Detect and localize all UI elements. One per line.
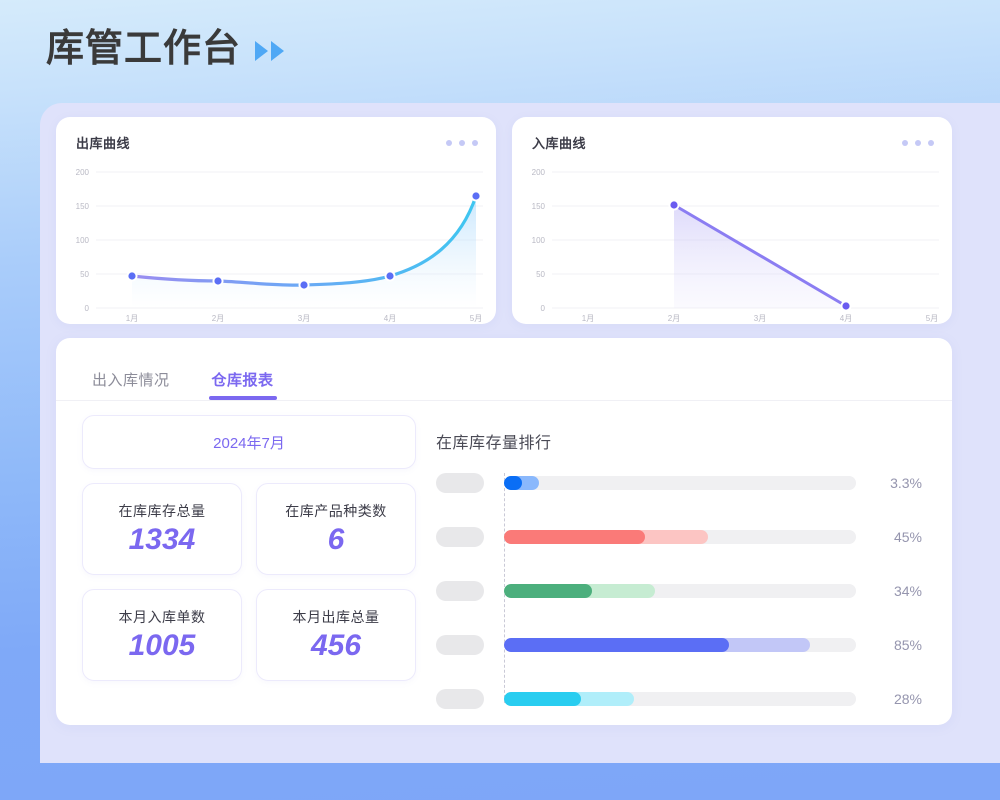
ranking-bar-track (504, 530, 856, 544)
dot-1 (446, 140, 452, 146)
svg-text:4月: 4月 (384, 314, 396, 323)
svg-text:5月: 5月 (470, 314, 482, 323)
ranking-label-placeholder (436, 635, 484, 655)
svg-text:2月: 2月 (212, 314, 224, 323)
dot-3 (928, 140, 934, 146)
stat-label: 在库库存总量 (119, 501, 206, 521)
play-triangle-icon-2 (271, 41, 284, 61)
ranking-row: 85% (436, 633, 922, 657)
ranking-percent-label: 85% (870, 637, 922, 653)
ranking-title: 在库库存量排行 (436, 429, 922, 453)
svg-text:100: 100 (76, 236, 90, 245)
period-selector[interactable]: 2024年7月 (82, 415, 416, 469)
ranking-bar-dark-segment (504, 692, 581, 706)
svg-text:150: 150 (76, 202, 90, 211)
more-dots-icon[interactable] (902, 140, 934, 146)
ranking-percent-label: 3.3% (870, 475, 922, 491)
svg-text:2月: 2月 (668, 314, 680, 323)
stat-label: 本月入库单数 (119, 607, 206, 627)
ranking-label-placeholder (436, 689, 484, 709)
page-title: 库管工作台 (46, 30, 241, 68)
ranking-bar-dark-segment (504, 476, 522, 490)
report-card: 出入库情况 仓库报表 2024年7月 在库库存总量 1334 在库产品种类数 6… (56, 338, 952, 725)
svg-text:0: 0 (85, 304, 90, 313)
ranking-label-placeholder (436, 473, 484, 493)
svg-text:150: 150 (532, 202, 546, 211)
stat-card-product-types[interactable]: 在库产品种类数 6 (256, 483, 416, 575)
stat-label: 在库产品种类数 (285, 501, 387, 521)
outbound-chart-card: 出库曲线 (56, 117, 496, 324)
tab-bar: 出入库情况 仓库报表 (56, 338, 952, 400)
ranking-label-placeholder (436, 581, 484, 601)
ranking-bar-track (504, 638, 856, 652)
ranking-bar-track (504, 476, 856, 490)
stat-card-inbound-orders[interactable]: 本月入库单数 1005 (82, 589, 242, 681)
outbound-chart-title: 出库曲线 (76, 133, 130, 152)
dot-1 (902, 140, 908, 146)
ranking-row: 3.3% (436, 471, 922, 495)
svg-text:50: 50 (80, 270, 89, 279)
stat-label: 本月出库总量 (293, 607, 380, 627)
svg-text:4月: 4月 (840, 314, 852, 323)
tab-inbound-outbound[interactable]: 出入库情况 (92, 369, 170, 400)
svg-text:200: 200 (532, 168, 546, 177)
stats-column: 2024年7月 在库库存总量 1334 在库产品种类数 6 本月入库单数 100… (56, 401, 428, 725)
outbound-chart-header: 出库曲线 (56, 117, 496, 152)
inbound-chart-header: 入库曲线 (512, 117, 952, 152)
page-header: 库管工作台 (46, 30, 284, 68)
stat-card-outbound-total[interactable]: 本月出库总量 456 (256, 589, 416, 681)
ranking-percent-label: 45% (870, 529, 922, 545)
ranking-row: 28% (436, 687, 922, 711)
svg-text:200: 200 (76, 168, 90, 177)
ranking-bar-dark-segment (504, 638, 729, 652)
svg-text:1月: 1月 (582, 314, 594, 323)
more-dots-icon[interactable] (446, 140, 478, 146)
ranking-row: 34% (436, 579, 922, 603)
stat-value: 6 (328, 523, 345, 558)
period-label: 2024年7月 (213, 432, 285, 453)
play-triangle-icon-1 (255, 41, 268, 61)
inbound-chart-title: 入库曲线 (532, 133, 586, 152)
ranking-bar-track (504, 692, 856, 706)
stat-value: 1005 (129, 629, 196, 664)
report-body: 2024年7月 在库库存总量 1334 在库产品种类数 6 本月入库单数 100… (56, 401, 952, 725)
stat-value: 456 (311, 629, 361, 664)
svg-text:3月: 3月 (754, 314, 766, 323)
ranking-label-placeholder (436, 527, 484, 547)
ranking-bar-dark-segment (504, 530, 645, 544)
tab-warehouse-report[interactable]: 仓库报表 (212, 369, 274, 400)
dot-2 (459, 140, 465, 146)
ranking-column: 在库库存量排行 3.3%45%34%85%28% (428, 401, 952, 725)
ranking-percent-label: 28% (870, 691, 922, 707)
svg-text:100: 100 (532, 236, 546, 245)
ranking-bar-dark-segment (504, 584, 592, 598)
svg-text:5月: 5月 (926, 314, 938, 323)
ranking-list: 3.3%45%34%85%28% (436, 471, 922, 711)
inbound-chart-card: 入库曲线 (512, 117, 952, 324)
svg-text:1月: 1月 (126, 314, 138, 323)
svg-text:50: 50 (536, 270, 545, 279)
ranking-percent-label: 34% (870, 583, 922, 599)
chart-row: 出库曲线 (56, 117, 952, 324)
dot-2 (915, 140, 921, 146)
stat-grid: 在库库存总量 1334 在库产品种类数 6 本月入库单数 1005 本月出库总量… (82, 483, 428, 681)
play-triangle-icon[interactable] (255, 41, 284, 61)
dot-3 (472, 140, 478, 146)
ranking-bar-track (504, 584, 856, 598)
stat-value: 1334 (129, 523, 196, 558)
ranking-row: 45% (436, 525, 922, 549)
stat-card-total-stock[interactable]: 在库库存总量 1334 (82, 483, 242, 575)
svg-text:3月: 3月 (298, 314, 310, 323)
svg-text:0: 0 (541, 304, 546, 313)
inbound-chart-plot: 200 150 100 50 0 1月 2月 3月 4月 (512, 161, 952, 324)
outbound-chart-plot: 200 150 100 50 0 (56, 161, 496, 324)
